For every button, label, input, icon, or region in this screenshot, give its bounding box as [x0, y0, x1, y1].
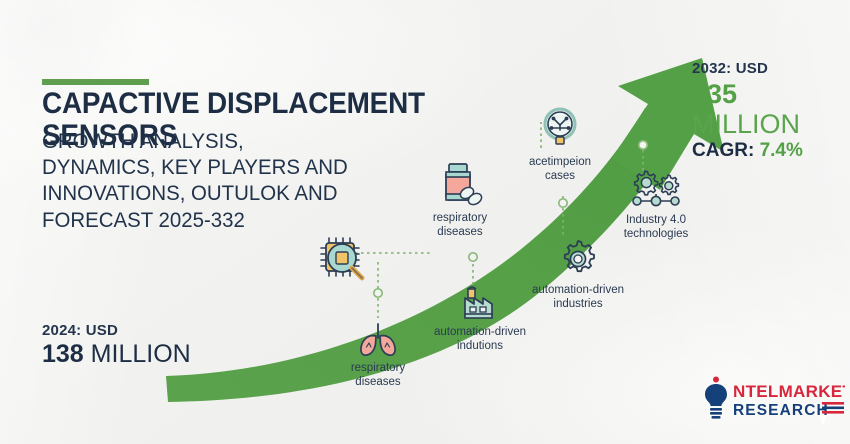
node-label-respiratory-pills: respiratory diseases — [412, 211, 508, 240]
node-label-respiratory-lungs: respiratory diseases — [330, 361, 426, 390]
end-year-label: 2032: USD — [692, 60, 850, 78]
end-value-number: 235 — [692, 79, 737, 109]
subtitle-line-3: INNOVATIONS, OUTULOK AND — [42, 180, 365, 206]
node-label-automation-indutions: automation-driven indutions — [420, 325, 540, 354]
node-industry-40: Industry 4.0 technologies — [604, 168, 708, 242]
title-accent-bar — [42, 79, 149, 85]
brand-logo[interactable]: NTELMARKET RESEARCH — [700, 374, 845, 424]
gears-network-icon — [627, 168, 685, 210]
node-chip-analysis — [312, 232, 374, 287]
node-label-automation-industries: automation-driven industries — [518, 283, 638, 312]
start-value-callout: 2024: USD 138 MILLION — [42, 322, 191, 369]
logo-stripes — [822, 402, 844, 414]
logo-word-secondary: RESEARCH — [733, 402, 829, 419]
page-subtitle: GROWTH ANALYSIS, DYNAMICS, KEY PLAYERS A… — [42, 128, 365, 233]
chip-magnifier-icon — [315, 232, 371, 284]
node-label-industry-40: Industry 4.0 technologies — [604, 213, 708, 242]
lightbulb-icon — [705, 377, 727, 419]
node-label-acetimpeion-cases: acetimpeion cases — [512, 155, 608, 184]
subtitle-line-1: GROWTH ANALYSIS, — [42, 128, 365, 154]
molecule-circle-icon — [537, 104, 583, 152]
subtitle-line-2: DYNAMICS, KEY PLAYERS AND — [42, 154, 365, 180]
cagr-value: 7.4% — [760, 140, 803, 161]
end-value-unit: MILLION — [692, 109, 800, 139]
cagr-label: CAGR: — [692, 140, 754, 161]
start-year-label: 2024: USD — [42, 322, 191, 339]
start-value-number: 138 — [42, 340, 84, 368]
node-respiratory-lungs: respiratory diseases — [330, 318, 426, 390]
start-value-unit: MILLION — [91, 340, 191, 368]
gear-icon — [557, 238, 599, 280]
logo-word-primary: NTELMARKET — [733, 382, 845, 401]
node-acetimpeion-cases: acetimpeion cases — [512, 104, 608, 184]
node-respiratory-pills: respiratory diseases — [412, 160, 508, 240]
lungs-icon — [354, 318, 402, 358]
cagr-row: CAGR: 7.4% — [692, 140, 850, 163]
infographic-canvas: CAPACTIVE DISPLACEMENT SENSORS GROWTH AN… — [0, 0, 850, 444]
end-value: 235 MILLION — [692, 79, 850, 139]
start-value: 138 MILLION — [42, 340, 191, 369]
factory-icon — [455, 284, 505, 322]
node-automation-industries: automation-driven industries — [518, 238, 638, 312]
end-value-callout: 2032: USD 235 MILLION CAGR: 7.4% — [692, 60, 850, 163]
subtitle-line-4: FORECAST 2025-332 — [42, 207, 365, 233]
pill-bottle-icon — [434, 160, 486, 208]
